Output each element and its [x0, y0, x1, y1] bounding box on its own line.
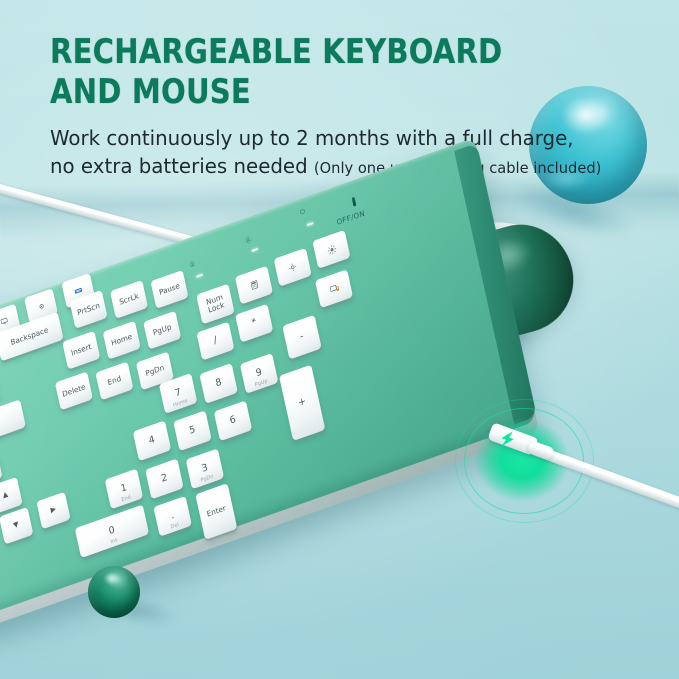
key-end[interactable]: End — [95, 362, 133, 401]
key-label: 5 — [188, 425, 196, 438]
key-insert[interactable]: Insert — [62, 331, 100, 370]
key-pause[interactable]: Pause — [150, 270, 188, 309]
key-label: + — [297, 396, 307, 409]
key-numpad-3[interactable]: 3PgDn — [186, 448, 225, 489]
key-numpad-minus[interactable]: - — [282, 315, 321, 360]
key-numpad-2[interactable]: 2 — [145, 458, 184, 499]
key-label: 8 — [215, 377, 223, 390]
key-calc[interactable] — [235, 266, 273, 305]
key-delete[interactable]: Delete — [55, 372, 93, 411]
gear-icon — [37, 301, 45, 310]
key-numlock[interactable]: Num Lock — [196, 284, 235, 325]
key-arrow-right[interactable]: ▶ — [36, 492, 70, 530]
key-numpad-enter[interactable]: Enter — [195, 483, 237, 540]
key-numpad-multiply[interactable]: * — [235, 304, 273, 343]
key-brightness-down[interactable] — [274, 248, 312, 287]
key-label: ScrLk — [119, 292, 140, 307]
subheading: Work continuously up to 2 months with a … — [50, 124, 644, 181]
key-pgup[interactable]: PgUp — [143, 311, 181, 350]
arrow-down-icon: ▼ — [13, 521, 20, 530]
key-label: * — [251, 317, 258, 329]
key-label: Home — [111, 332, 133, 347]
key-numpad-divide[interactable]: / — [196, 322, 234, 361]
key-label: 2 — [160, 473, 168, 486]
arrow-up-icon: ▲ — [2, 491, 9, 500]
key-label: 0 — [108, 525, 116, 538]
key-label: Backspace — [10, 326, 49, 347]
key-numpad-8[interactable]: 8 — [199, 363, 238, 404]
product-marketing-scene: RECHARGEABLE KEYBOARD AND MOUSE Work con… — [0, 0, 679, 679]
arrow-right-icon: ▶ — [50, 506, 57, 515]
key-label: Insert — [70, 343, 92, 358]
headline-line-2: AND MOUSE — [50, 72, 629, 112]
calculator-icon — [250, 280, 258, 290]
key-label: PgDn — [145, 364, 165, 379]
key-lock[interactable] — [315, 269, 353, 308]
keyboard-icon — [74, 287, 83, 296]
decor-ball-small — [88, 566, 140, 618]
key-home[interactable]: Home — [103, 321, 141, 360]
key-enter-main[interactable]: Enter — [0, 399, 26, 450]
key-numpad-5[interactable]: 5 — [173, 410, 212, 451]
sun-low-icon — [288, 262, 297, 273]
sun-high-icon — [326, 243, 336, 255]
key-numpad-0[interactable]: 0Ins — [75, 505, 149, 558]
key-label: 3 — [201, 463, 209, 476]
headline-line-1: RECHARGEABLE KEYBOARD — [50, 32, 502, 71]
key-numpad-9[interactable]: 9PgUp — [240, 353, 279, 394]
key-label: / — [213, 335, 218, 347]
key-label: - — [299, 331, 305, 343]
key-numpad-4[interactable]: 4 — [133, 420, 172, 461]
subheading-line-2: no extra batteries needed — [50, 154, 308, 178]
key-label: PrtScn — [76, 301, 100, 317]
key-numpad-6[interactable]: 6 — [214, 400, 253, 441]
lock-screen-icon — [329, 283, 339, 294]
key-label: Num Lock — [205, 293, 225, 315]
key-label: 7 — [174, 387, 182, 400]
key-arrow-down[interactable]: ▼ — [0, 507, 33, 545]
key-label: 9 — [255, 367, 263, 380]
key-numpad-plus[interactable]: + — [279, 365, 325, 441]
key-label: Pause — [158, 282, 180, 297]
key-numpad-1[interactable]: 1End — [105, 468, 144, 509]
key-label: PgUp — [152, 323, 172, 338]
key-brightness-up[interactable] — [312, 230, 350, 269]
key-label: 4 — [148, 435, 156, 448]
key-label: 1 — [120, 483, 128, 496]
key-label: Delete — [62, 383, 87, 399]
key-label: End — [107, 375, 122, 388]
key-label: . — [170, 510, 175, 522]
display-icon — [0, 317, 8, 325]
capslock-indicator-icon: Ⓐ — [244, 233, 252, 245]
page-title: RECHARGEABLE KEYBOARD AND MOUSE — [50, 32, 629, 112]
subheading-line-1: Work continuously up to 2 months with a … — [50, 126, 574, 150]
key-label: 6 — [229, 415, 237, 428]
key-scrlk[interactable]: ScrLk — [110, 280, 148, 319]
key-label: Enter — [206, 504, 227, 519]
key-numpad-dot[interactable]: .Del — [153, 496, 192, 537]
